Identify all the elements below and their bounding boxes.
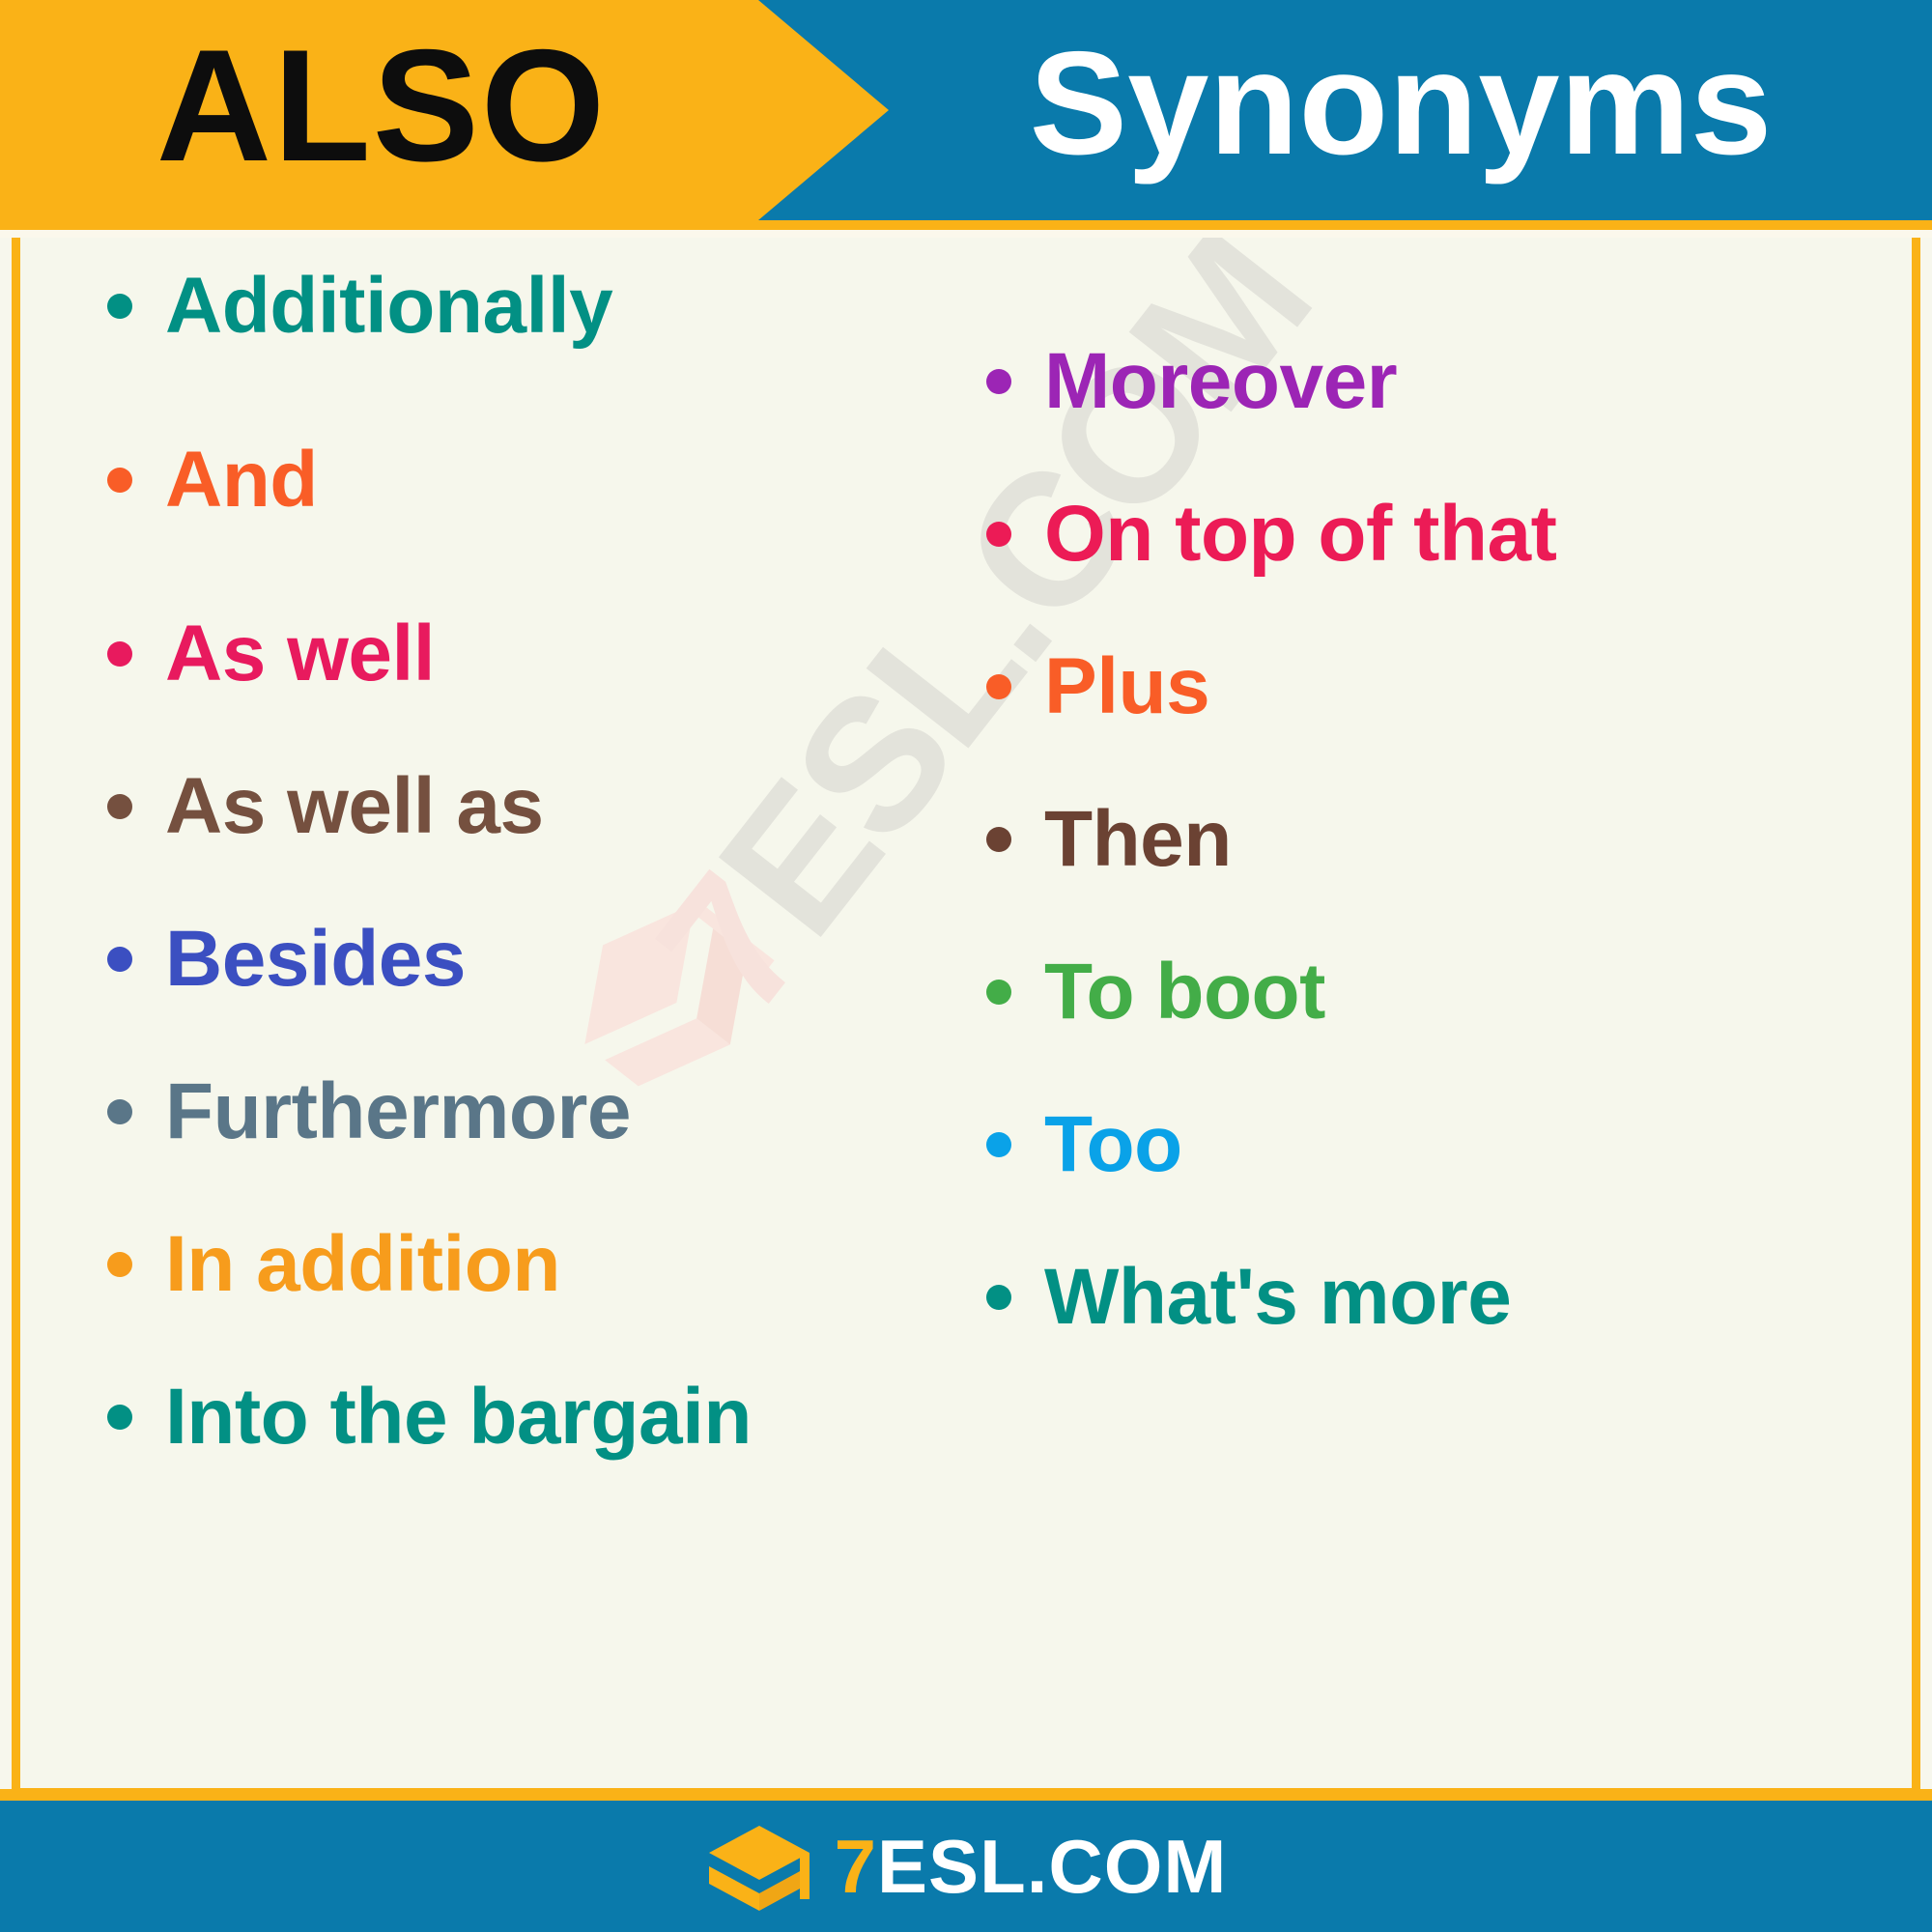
synonym-item: Furthermore: [107, 1072, 631, 1151]
bullet-dot-icon: [107, 947, 132, 972]
bullet-dot-icon: [986, 1132, 1011, 1157]
synonym-label: On top of that: [1044, 495, 1556, 574]
synonym-item: Then: [986, 800, 1232, 879]
bullet-dot-icon: [107, 468, 132, 493]
bullet-dot-icon: [107, 1405, 132, 1430]
brand-seven: 7: [835, 1829, 877, 1904]
synonym-label: Additionally: [165, 267, 612, 346]
page-title: Synonyms: [889, 0, 1932, 220]
site-brand: 7ESL.COM: [835, 1829, 1228, 1904]
synonym-item: To boot: [986, 952, 1325, 1032]
synonym-item: As well: [107, 614, 435, 694]
synonym-item: What's more: [986, 1258, 1511, 1337]
synonym-label: As well as: [165, 767, 544, 846]
bullet-dot-icon: [986, 522, 1011, 547]
synonym-label: And: [165, 440, 318, 520]
synonym-label: Then: [1044, 800, 1232, 879]
header-divider-gap: [0, 230, 1932, 238]
synonym-label: Too: [1044, 1105, 1182, 1184]
bullet-dot-icon: [986, 369, 1011, 394]
synonym-item: And: [107, 440, 318, 520]
poster-header: ALSO Synonyms: [0, 0, 1932, 220]
synonym-label: What's more: [1044, 1258, 1511, 1337]
synonym-item: Additionally: [107, 267, 612, 346]
synonym-item: Too: [986, 1105, 1182, 1184]
synonym-item: On top of that: [986, 495, 1556, 574]
synonym-label: Furthermore: [165, 1072, 631, 1151]
header-divider-rule: [0, 220, 1932, 230]
synonym-item: Plus: [986, 647, 1209, 726]
synonym-item: As well as: [107, 767, 544, 846]
bullet-dot-icon: [986, 980, 1011, 1005]
brand-rest: ESL.COM: [877, 1829, 1227, 1904]
footer-divider-rule: [0, 1789, 1932, 1801]
synonyms-panel: 7ESL.COM AdditionallyAndAs wellAs well a…: [12, 238, 1920, 1797]
synonym-label: Moreover: [1044, 342, 1397, 421]
synonym-label: In addition: [165, 1225, 560, 1304]
bullet-dot-icon: [986, 1285, 1011, 1310]
synonyms-columns: AdditionallyAndAs wellAs well asBesidesF…: [20, 238, 1912, 1783]
synonym-item: In addition: [107, 1225, 560, 1304]
bullet-dot-icon: [107, 294, 132, 319]
synonym-label: As well: [165, 614, 435, 694]
infographic-poster: ALSO Synonyms 7ESL.COM AdditionallyAndAs…: [0, 0, 1932, 1932]
poster-footer: 7ESL.COM: [0, 1801, 1932, 1932]
synonym-label: Besides: [165, 920, 466, 999]
bullet-dot-icon: [107, 641, 132, 667]
bullet-dot-icon: [107, 1099, 132, 1124]
synonyms-column-left: AdditionallyAndAs wellAs well asBesidesF…: [107, 238, 938, 1783]
bullet-dot-icon: [107, 1252, 132, 1277]
bullet-dot-icon: [107, 794, 132, 819]
bullet-dot-icon: [986, 674, 1011, 699]
synonym-label: To boot: [1044, 952, 1325, 1032]
synonym-item: Besides: [107, 920, 466, 999]
synonyms-column-right: MoreoverOn top of thatPlusThenTo bootToo…: [986, 238, 1817, 1783]
synonym-item: Moreover: [986, 342, 1397, 421]
synonym-label: Into the bargain: [165, 1378, 752, 1457]
keyword-text: ALSO: [0, 0, 763, 220]
graduation-cap-icon: [705, 1818, 813, 1915]
bullet-dot-icon: [986, 827, 1011, 852]
synonym-item: Into the bargain: [107, 1378, 752, 1457]
synonym-label: Plus: [1044, 647, 1209, 726]
